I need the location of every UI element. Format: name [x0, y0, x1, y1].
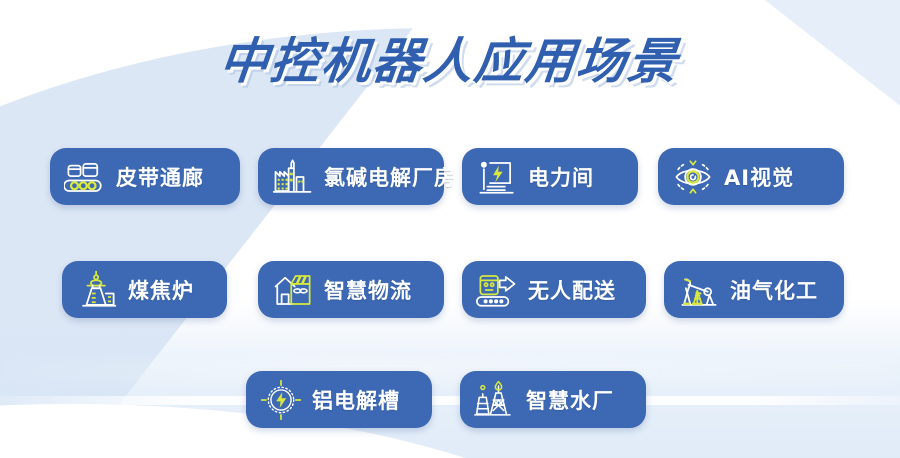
scenario-card-label: 智慧水厂 [526, 385, 614, 415]
scenario-card-ai-vision[interactable]: AI视觉 [658, 148, 844, 205]
scenario-card-oil-gas-chemical[interactable]: 油气化工 [664, 261, 844, 318]
scenario-card-unmanned-delivery[interactable]: 无人配送 [462, 261, 646, 318]
scenario-card-coke-oven[interactable]: 煤焦炉 [62, 261, 227, 318]
coke-oven-icon [76, 269, 118, 311]
infographic-canvas: 中控机器人应用场景 皮带通廊 [0, 0, 900, 458]
background-soft-streak [0, 358, 900, 384]
page-title: 中控机器人应用场景 [0, 22, 900, 92]
pumpjack-icon [678, 269, 720, 311]
scenario-card-label: 氯碱电解厂房 [324, 162, 456, 192]
scenario-card-label: 煤焦炉 [128, 275, 194, 305]
scenario-card-label: AI视觉 [724, 162, 794, 192]
electrolysis-cell-icon [260, 379, 302, 421]
scenario-card-label: 油气化工 [730, 275, 818, 305]
scenario-card-chlor-alkali[interactable]: 氯碱电解厂房 [258, 148, 444, 205]
water-tower-icon [474, 379, 516, 421]
scenario-card-label: 智慧物流 [324, 275, 412, 305]
factory-icon [272, 156, 314, 198]
page-title-text: 中控机器人应用场景 [217, 22, 683, 93]
scenario-card-label: 无人配送 [528, 275, 616, 305]
background-light-streak [0, 396, 900, 405]
scenario-card-label: 皮带通廊 [116, 162, 204, 192]
scenario-card-label: 铝电解槽 [312, 385, 400, 415]
scenario-card-label: 电力间 [528, 162, 594, 192]
scenario-card-smart-logistics[interactable]: 智慧物流 [258, 261, 444, 318]
scenario-card-smart-waterworks[interactable]: 智慧水厂 [460, 371, 646, 428]
scenario-card-aluminum-cell[interactable]: 铝电解槽 [246, 371, 432, 428]
power-panel-icon [476, 156, 518, 198]
scenario-card-conveyor[interactable]: 皮带通廊 [50, 148, 240, 205]
eye-vision-icon [672, 156, 714, 198]
warehouse-icon [272, 269, 314, 311]
scenario-card-power-room[interactable]: 电力间 [462, 148, 638, 205]
delivery-robot-icon [476, 269, 518, 311]
conveyor-belt-icon [64, 156, 106, 198]
